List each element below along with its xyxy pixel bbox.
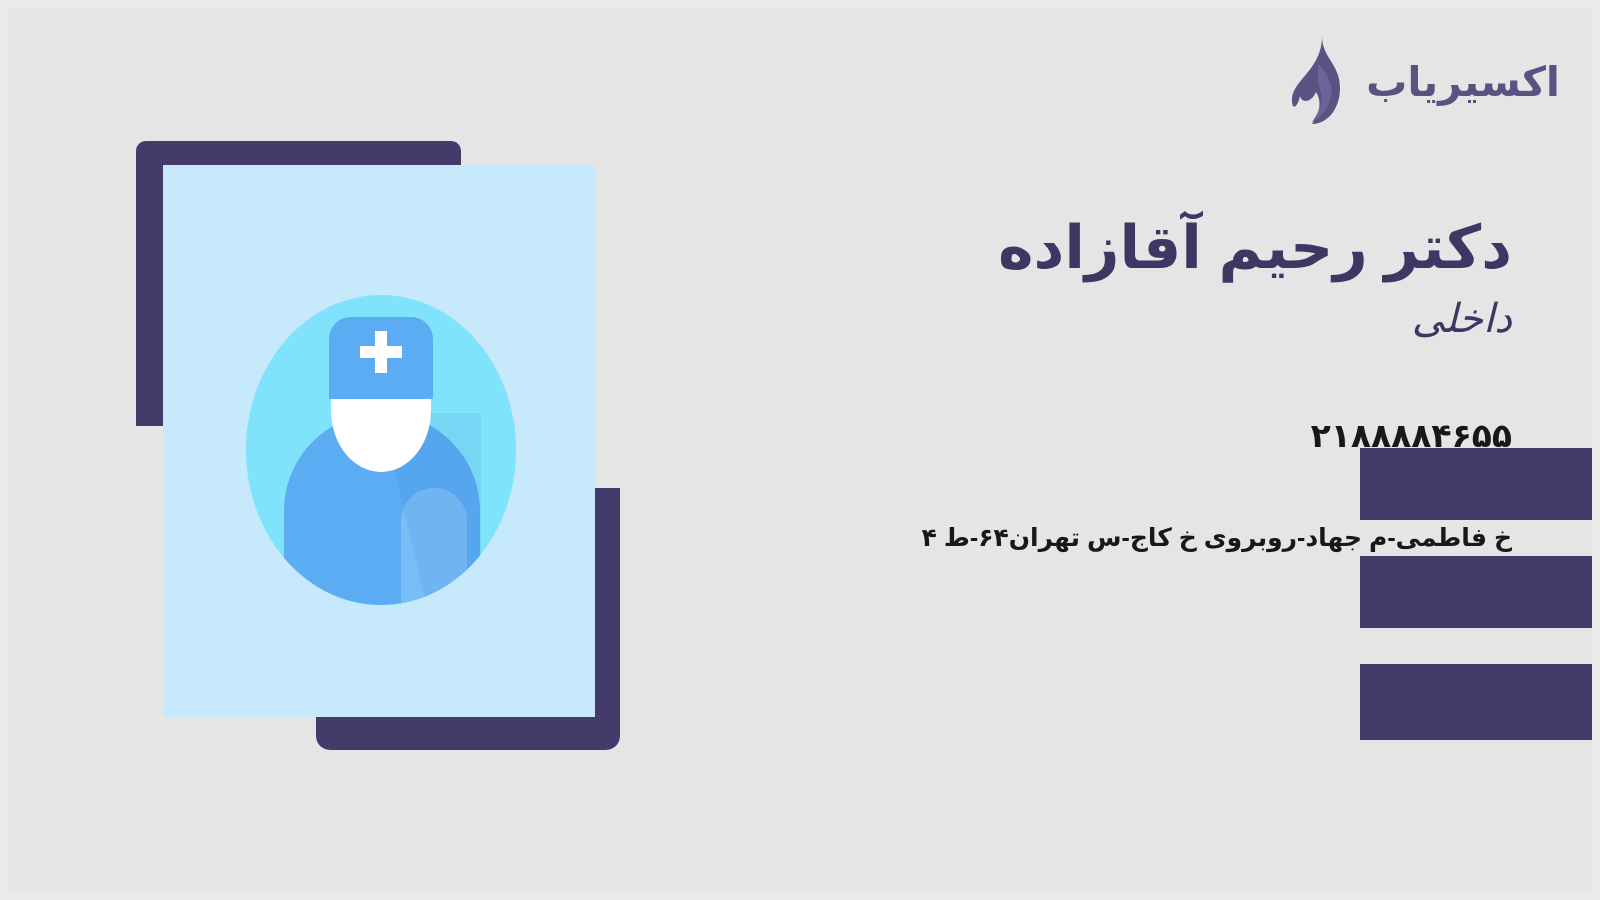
illustration-card [163, 165, 595, 717]
page-title: دکتر رحیم آقازاده [752, 213, 1512, 282]
avatar-clip [246, 295, 516, 605]
doctor-profile-card: اکسیریاب دکتر رحیم آقازاده داخلی ۲۱۸۸۸۸۴… [0, 0, 1600, 900]
doctor-avatar-icon [246, 295, 516, 605]
brand-logo[interactable]: اکسیریاب [1278, 34, 1560, 130]
decor-bar-two [1360, 556, 1592, 628]
brand-name: اکسیریاب [1366, 58, 1560, 106]
medical-cross-icon-bar [360, 346, 402, 358]
flame-droplet-icon [1278, 34, 1352, 130]
decor-bar-one [1360, 448, 1592, 520]
doctor-specialty: داخلی [752, 296, 1512, 342]
clinic-address: خ فاطمی-م جهاد-روبروی خ کاج-س تهران۶۴-ط … [752, 523, 1512, 553]
illustration-composition [128, 133, 628, 758]
decor-bar-three [1360, 664, 1592, 740]
